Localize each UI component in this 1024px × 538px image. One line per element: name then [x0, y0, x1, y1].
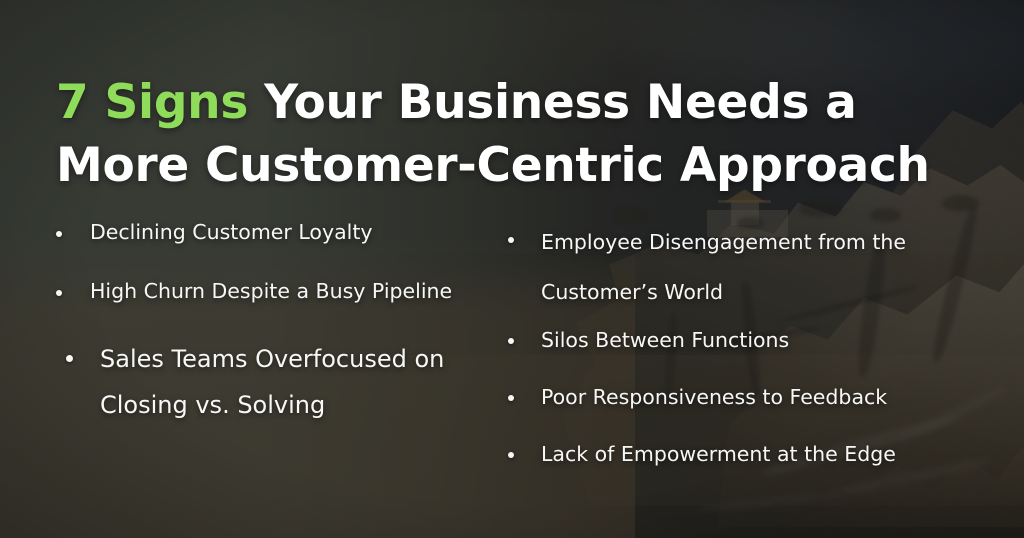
- bullet-column-right: Employee Disengagement from the Customer…: [508, 218, 996, 497]
- bullet-columns: Declining Customer Loyalty High Churn De…: [56, 218, 996, 497]
- bullet-dot-icon: [508, 395, 514, 401]
- list-item: Poor Responsiveness to Feedback: [508, 382, 996, 412]
- list-item-label: Poor Responsiveness to Feedback: [541, 382, 996, 412]
- list-item: High Churn Despite a Busy Pipeline: [56, 277, 508, 306]
- list-item: Declining Customer Loyalty: [56, 218, 508, 247]
- bullet-list-right: Employee Disengagement from the Customer…: [508, 218, 996, 470]
- list-item-label: Lack of Empowerment at the Edge: [541, 439, 996, 469]
- list-item-label: Silos Between Functions: [541, 325, 996, 355]
- bullet-dot-icon: [56, 290, 62, 296]
- bullet-dot-icon: [508, 237, 514, 243]
- bullet-dot-icon: [508, 338, 514, 344]
- title-rest-line1: Your Business Needs a: [248, 75, 857, 130]
- list-item-label: Declining Customer Loyalty: [90, 218, 508, 247]
- slide-content: 7 Signs Your Business Needs a More Custo…: [0, 0, 1024, 538]
- bullet-column-left: Declining Customer Loyalty High Churn De…: [56, 218, 508, 497]
- title-line2: More Customer-Centric Approach: [56, 138, 930, 193]
- list-item-label: High Churn Despite a Busy Pipeline: [90, 277, 508, 306]
- list-item-label: Employee Disengagement from the Customer…: [541, 218, 996, 317]
- list-item: Silos Between Functions: [508, 325, 996, 355]
- list-item-label: Sales Teams Overfocused on Closing vs. S…: [100, 336, 508, 428]
- bullet-dot-icon: [508, 452, 514, 458]
- title-accent-text: 7 Signs: [56, 75, 248, 130]
- list-item: Employee Disengagement from the Customer…: [508, 218, 996, 317]
- bullet-dot-icon: [56, 231, 62, 237]
- list-item: Sales Teams Overfocused on Closing vs. S…: [56, 336, 508, 428]
- slide-title: 7 Signs Your Business Needs a More Custo…: [56, 72, 956, 197]
- slide-canvas: 7 Signs Your Business Needs a More Custo…: [0, 0, 1024, 538]
- list-item: Lack of Empowerment at the Edge: [508, 439, 996, 469]
- bullet-list-left: Declining Customer Loyalty High Churn De…: [56, 218, 508, 428]
- bullet-dot-icon: [66, 355, 73, 362]
